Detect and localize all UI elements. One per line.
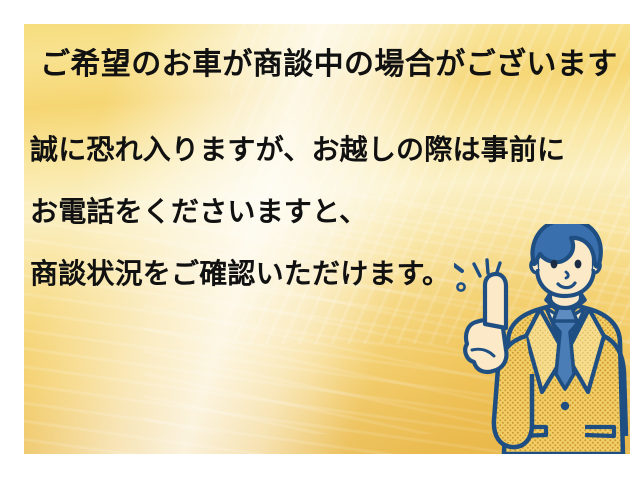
gradient-panel: ご希望のお車が商談中の場合がございます 誠に恐れ入りますが、お越しの際は事前に … [24, 24, 630, 454]
hand-crease [472, 349, 494, 356]
notice-body-line-1: 誠に恐れ入りますが、お越しの際は事前に [30, 136, 620, 164]
necktie [553, 312, 577, 389]
shirt-front [546, 308, 585, 352]
suit-jacket [504, 302, 623, 454]
right-arm-sleeve [604, 336, 626, 436]
notice-body-line-3: 商談状況をご確認いただけます。 [30, 260, 620, 288]
notice-banner: ご希望のお車が商談中の場合がございます 誠に恐れ入りますが、お越しの際は事前に … [0, 0, 640, 480]
jacket-pocket-right [585, 427, 614, 436]
suit-lapel-left [526, 309, 565, 392]
page-title: ご希望のお車が商談中の場合がございます [40, 50, 614, 80]
jacket-pocket-left [516, 427, 546, 436]
shirt-collar [546, 292, 585, 317]
raised-arm-sleeve [494, 336, 532, 447]
suit-lapel-right [566, 309, 604, 392]
pointing-hand [465, 320, 506, 372]
necktie-knot [553, 308, 577, 321]
notice-body-text: 誠に恐れ入りますが、お越しの際は事前に お電話をくださいますと、 商談状況をご確… [30, 136, 620, 288]
jacket-button [561, 402, 569, 410]
notice-body-line-2: お電話をくださいますと、 [30, 198, 620, 226]
